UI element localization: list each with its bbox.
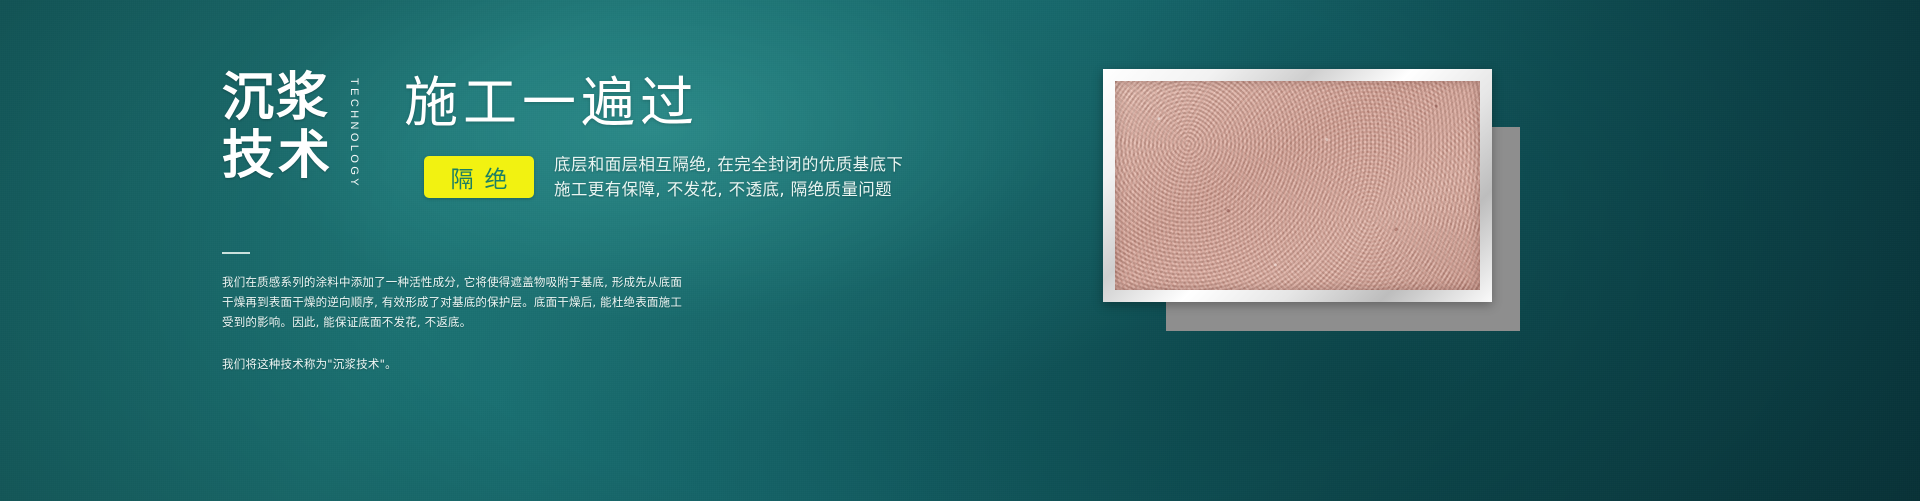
subtitle-row: 隔绝 底层和面层相互隔绝, 在完全封闭的优质基底下 施工更有保障, 不发花, 不… [424, 152, 903, 202]
body-paragraph-2: 我们将这种技术称为"沉浆技术"。 [222, 354, 692, 374]
logo-line-1: 沉浆 [222, 72, 334, 124]
status-badge: 隔绝 [424, 156, 534, 198]
left-content-column: 沉浆 技术 TECHNOLOGY 施工一遍过 隔绝 底层和面层相互隔绝, 在完全… [0, 0, 1100, 501]
logo-line-2: 技术 [222, 130, 334, 182]
brand-logo: 沉浆 技术 TECHNOLOGY [222, 72, 360, 182]
body-paragraph-1: 我们在质感系列的涂料中添加了一种活性成分, 它将使得遮盖物吸附于基底, 形成先从… [222, 272, 692, 332]
product-image-stone-texture [1115, 81, 1480, 290]
page-title: 施工一遍过 [404, 74, 699, 132]
divider-dash [222, 252, 250, 254]
subtitle-line-2: 施工更有保障, 不发花, 不透底, 隔绝质量问题 [554, 177, 903, 202]
logo-vertical-technology-label: TECHNOLOGY [348, 78, 360, 182]
subtitle-line-1: 底层和面层相互隔绝, 在完全封闭的优质基底下 [554, 152, 903, 177]
subtitle-text: 底层和面层相互隔绝, 在完全封闭的优质基底下 施工更有保障, 不发花, 不透底,… [554, 152, 903, 202]
body-copy: 我们在质感系列的涂料中添加了一种活性成分, 它将使得遮盖物吸附于基底, 形成先从… [222, 272, 692, 374]
banner-root: 沉浆 技术 TECHNOLOGY 施工一遍过 隔绝 底层和面层相互隔绝, 在完全… [0, 0, 1920, 501]
logo-wordmark: 沉浆 技术 [222, 72, 334, 182]
product-image-frame [1103, 69, 1492, 302]
